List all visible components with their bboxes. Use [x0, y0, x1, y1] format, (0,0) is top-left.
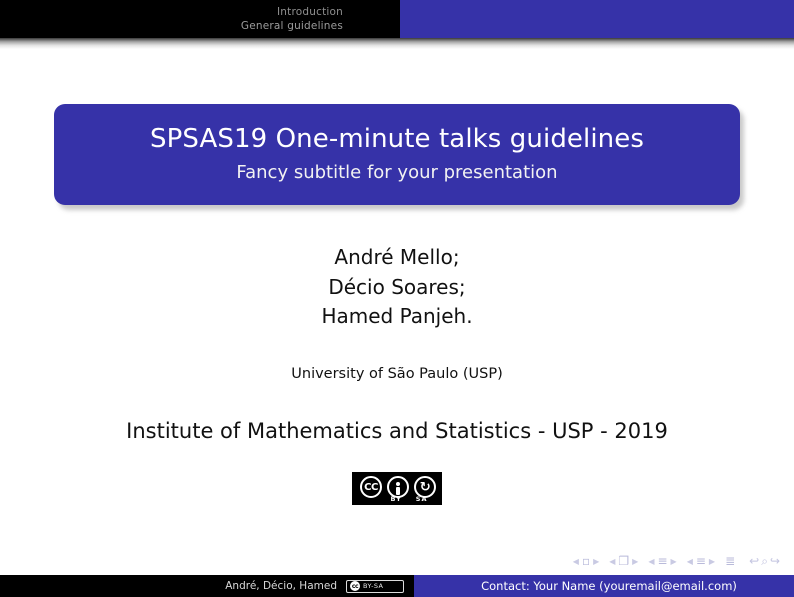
forward-icon[interactable]: ↪: [770, 554, 780, 568]
author-name-1: André Mello;: [0, 243, 794, 273]
title-block-panel: SPSAS19 One-minute talks guidelines Fanc…: [54, 104, 740, 205]
footer-contact-text: Contact: Your Name (youremail@email.com): [481, 579, 737, 593]
previous-subsection-icon[interactable]: ◀: [648, 557, 654, 566]
subsection-navigation-group: ◀ ≡ ▶: [648, 555, 676, 567]
section-navigation-group: ◀ ≡ ▶: [687, 555, 715, 567]
header-blue-panel: [400, 0, 794, 38]
author-list: André Mello; Décio Soares; Hamed Panjeh.: [0, 243, 794, 332]
previous-slide-icon[interactable]: ◀: [573, 557, 579, 566]
slide-footer-bar: André, Décio, Hamed cc BY-SA Contact: Yo…: [0, 575, 794, 597]
slide-icon[interactable]: ▫: [582, 555, 590, 567]
history-navigation-group: ↩ ⌕ ↪: [749, 554, 780, 569]
creative-commons-license-badge[interactable]: CC ↻ BY SA: [352, 472, 442, 505]
appendix-navigation-group: ≣: [725, 555, 735, 567]
presentation-slide: Introduction General guidelines SPSAS19 …: [0, 0, 794, 597]
previous-section-icon[interactable]: ◀: [687, 557, 693, 566]
frame-icon[interactable]: ❐: [618, 555, 629, 567]
beamer-navigation-symbols: ◀ ▫ ▶ ◀ ❐ ▶ ◀ ≡ ▶ ◀ ≡ ▶ ≣ ↩ ⌕ ↪: [573, 552, 780, 570]
author-name-3: Hamed Panjeh.: [0, 302, 794, 332]
title-block: SPSAS19 One-minute talks guidelines Fanc…: [54, 104, 740, 205]
institution-text: University of São Paulo (USP): [0, 364, 794, 384]
header-nav-item-general-guidelines[interactable]: General guidelines: [241, 19, 343, 33]
header-nav-item-introduction[interactable]: Introduction: [277, 5, 343, 19]
cc-label-row: BY SA: [353, 495, 443, 503]
next-section-icon[interactable]: ▶: [709, 557, 715, 566]
appendix-icon[interactable]: ≣: [725, 555, 735, 567]
cc-by-label: BY: [390, 495, 401, 503]
page-title: SPSAS19 One-minute talks guidelines: [150, 123, 644, 155]
section-icon[interactable]: ≡: [696, 555, 706, 567]
footer-cc-license-text: BY-SA: [363, 582, 383, 590]
back-icon[interactable]: ↩: [749, 554, 759, 568]
subsection-icon[interactable]: ≡: [657, 555, 667, 567]
page-subtitle: Fancy subtitle for your presentation: [236, 160, 557, 186]
footer-creative-commons-badge[interactable]: cc BY-SA: [346, 580, 404, 593]
next-slide-icon[interactable]: ▶: [593, 557, 599, 566]
slide-header-bar: Introduction General guidelines: [0, 0, 794, 38]
previous-frame-icon[interactable]: ◀: [609, 557, 615, 566]
footer-left-panel: André, Décio, Hamed cc BY-SA: [0, 575, 414, 597]
cc-person-head-shape: [396, 482, 400, 486]
frame-navigation-group: ◀ ❐ ▶: [609, 555, 638, 567]
cc-badge-body: CC ↻ BY SA: [352, 472, 442, 505]
next-subsection-icon[interactable]: ▶: [671, 557, 677, 566]
author-name-2: Décio Soares;: [0, 273, 794, 303]
header-navigation-titles: Introduction General guidelines: [0, 0, 400, 38]
cc-sa-arrow-glyph: ↻: [420, 481, 430, 494]
slide-navigation-group: ◀ ▫ ▶: [573, 555, 599, 567]
footer-contact-panel: Contact: Your Name (youremail@email.com): [414, 575, 794, 597]
cc-sa-label: SA: [416, 495, 428, 503]
next-frame-icon[interactable]: ▶: [632, 557, 638, 566]
search-icon[interactable]: ⌕: [761, 554, 768, 569]
cc-person-body-shape: [396, 487, 400, 495]
event-text: Institute of Mathematics and Statistics …: [0, 417, 794, 445]
footer-authors-text: André, Décio, Hamed: [225, 580, 337, 592]
footer-cc-logo-icon: cc: [350, 581, 360, 591]
header-drop-shadow: [0, 38, 794, 49]
